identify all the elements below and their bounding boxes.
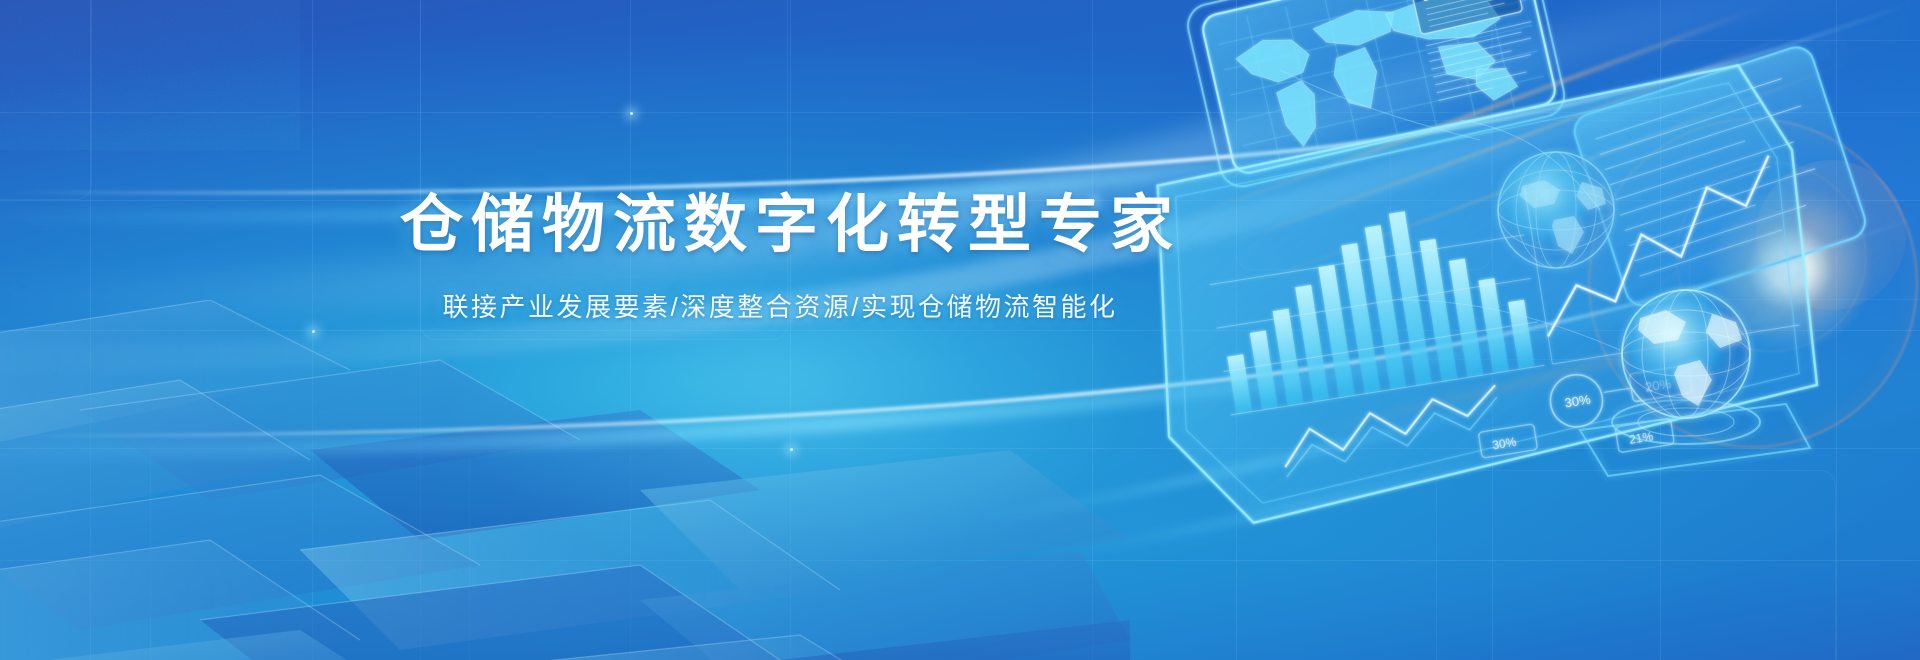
banner-copy: 仓储物流数字化转型专家 联接产业发展要素/深度整合资源/实现仓储物流智能化 [400, 190, 1160, 324]
banner-subheadline: 联接产业发展要素/深度整合资源/实现仓储物流智能化 [400, 287, 1160, 324]
hero-banner: ASIA [0, 0, 1920, 660]
banner-headline: 仓储物流数字化转型专家 [400, 190, 1160, 261]
hologram-graphic: ASIA [1100, 0, 1920, 660]
